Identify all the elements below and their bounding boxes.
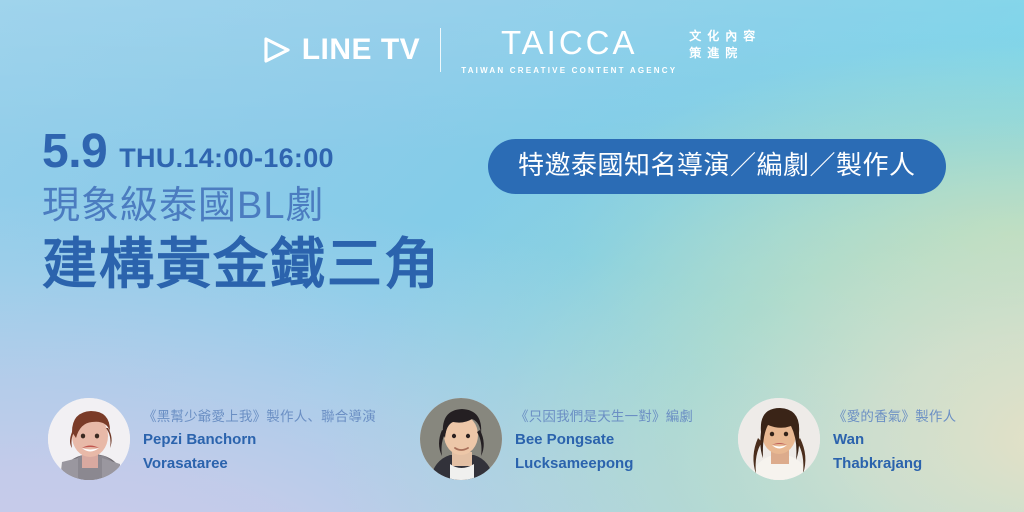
speaker-item: 《愛的香氣》製作人 Wan Thabkrajang xyxy=(738,398,956,480)
speaker-name-line2: Lucksameepong xyxy=(515,453,693,474)
event-title: 建構黃金鐵三角 xyxy=(42,234,441,295)
linetv-wordmark: LINE TV xyxy=(302,35,421,65)
speaker-name-line1: Wan xyxy=(833,429,956,450)
event-banner: LINE TV TAICCA TAIWAN CREATIVE CONTENT A… xyxy=(0,0,1024,512)
speaker-item: 《黑幫少爺愛上我》製作人、聯合導演 Pepzi Banchorn Vorasat… xyxy=(48,398,420,480)
linetv-logo[interactable]: LINE TV xyxy=(263,35,421,65)
headline-block: 5.9 THU.14:00-16:00 現象級泰國BL劇 建構黃金鐵三角 xyxy=(42,128,441,294)
speaker-info: 《只因我們是天生一對》編劇 Bee Pongsate Lucksameepong xyxy=(515,398,693,474)
taicca-wordmark-group: TAICCA TAIWAN CREATIVE CONTENT AGENCY xyxy=(461,26,677,75)
taicca-chinese-line2: 策進院 xyxy=(689,47,761,61)
speaker-photo-wan xyxy=(738,398,820,480)
taicca-chinese-line1: 文化內容 xyxy=(689,30,761,44)
speaker-name-line1: Pepzi Banchorn xyxy=(143,429,376,450)
speaker-item: 《只因我們是天生一對》編劇 Bee Pongsate Lucksameepong xyxy=(420,398,738,480)
speaker-name-line1: Bee Pongsate xyxy=(515,429,693,450)
event-date: 5.9 xyxy=(42,128,107,176)
event-subtitle: 現象級泰國BL劇 xyxy=(42,185,441,228)
speaker-list: 《黑幫少爺愛上我》製作人、聯合導演 Pepzi Banchorn Vorasat… xyxy=(0,398,1024,480)
speaker-name-line2: Thabkrajang xyxy=(833,453,956,474)
taicca-chinese-name: 文化內容 策進院 xyxy=(689,26,761,61)
speaker-name-line2: Vorasataree xyxy=(143,453,376,474)
speaker-credit: 《愛的香氣》製作人 xyxy=(833,408,956,426)
event-time: THU.14:00-16:00 xyxy=(119,145,334,172)
taicca-logo[interactable]: TAICCA TAIWAN CREATIVE CONTENT AGENCY 文化… xyxy=(461,26,761,75)
logo-bar: LINE TV TAICCA TAIWAN CREATIVE CONTENT A… xyxy=(0,26,1024,75)
speaker-info: 《黑幫少爺愛上我》製作人、聯合導演 Pepzi Banchorn Vorasat… xyxy=(143,398,376,474)
speaker-credit: 《只因我們是天生一對》編劇 xyxy=(515,408,693,426)
taicca-wordmark: TAICCA xyxy=(501,26,638,61)
speaker-photo-bee xyxy=(420,398,502,480)
speaker-info: 《愛的香氣》製作人 Wan Thabkrajang xyxy=(833,398,956,474)
event-datetime: 5.9 THU.14:00-16:00 xyxy=(42,128,441,176)
speaker-photo-pepzi xyxy=(48,398,130,480)
guest-badge: 特邀泰國知名導演／編劇／製作人 xyxy=(488,139,946,194)
taicca-tagline: TAIWAN CREATIVE CONTENT AGENCY xyxy=(461,66,677,75)
logo-divider xyxy=(440,28,441,72)
speaker-credit: 《黑幫少爺愛上我》製作人、聯合導演 xyxy=(143,408,376,426)
play-triangle-icon xyxy=(263,36,291,64)
